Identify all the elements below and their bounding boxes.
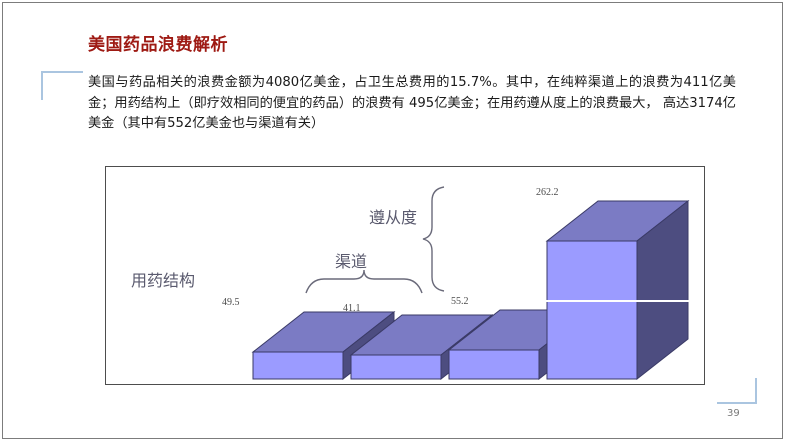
bar-value-label-1: 41.1 (343, 303, 361, 314)
brace-channel-icon (306, 270, 422, 293)
chart-container: 用药结构 渠道 遵从度 49.5 41.1 55.2 262.2 (105, 166, 705, 385)
bar-value-label-2: 55.2 (451, 296, 469, 307)
brace-adherence-icon (423, 187, 444, 291)
page-title: 美国药品浪费解析 (88, 30, 228, 55)
annotation-label-structure: 用药结构 (131, 267, 195, 291)
annotation-label-channel: 渠道 (335, 248, 367, 272)
page-number: 39 (727, 408, 740, 419)
corner-bracket-bottom-right-icon (717, 378, 757, 404)
chart-plot-area: 用药结构 渠道 遵从度 49.5 41.1 55.2 262.2 (106, 167, 704, 384)
bar-value-label-0: 49.5 (222, 297, 240, 308)
bar-value-label-3: 262.2 (536, 187, 559, 198)
slide-canvas: 美国药品浪费解析 美国与药品相关的浪费金额为4080亿美金，占卫生总费用的15.… (0, 0, 787, 442)
corner-bracket-top-left-icon (41, 71, 83, 100)
body-paragraph: 美国与药品相关的浪费金额为4080亿美金，占卫生总费用的15.7%。其中，在纯粹… (88, 73, 736, 135)
annotation-braces (106, 167, 705, 385)
annotation-label-adherence: 遵从度 (369, 204, 417, 228)
